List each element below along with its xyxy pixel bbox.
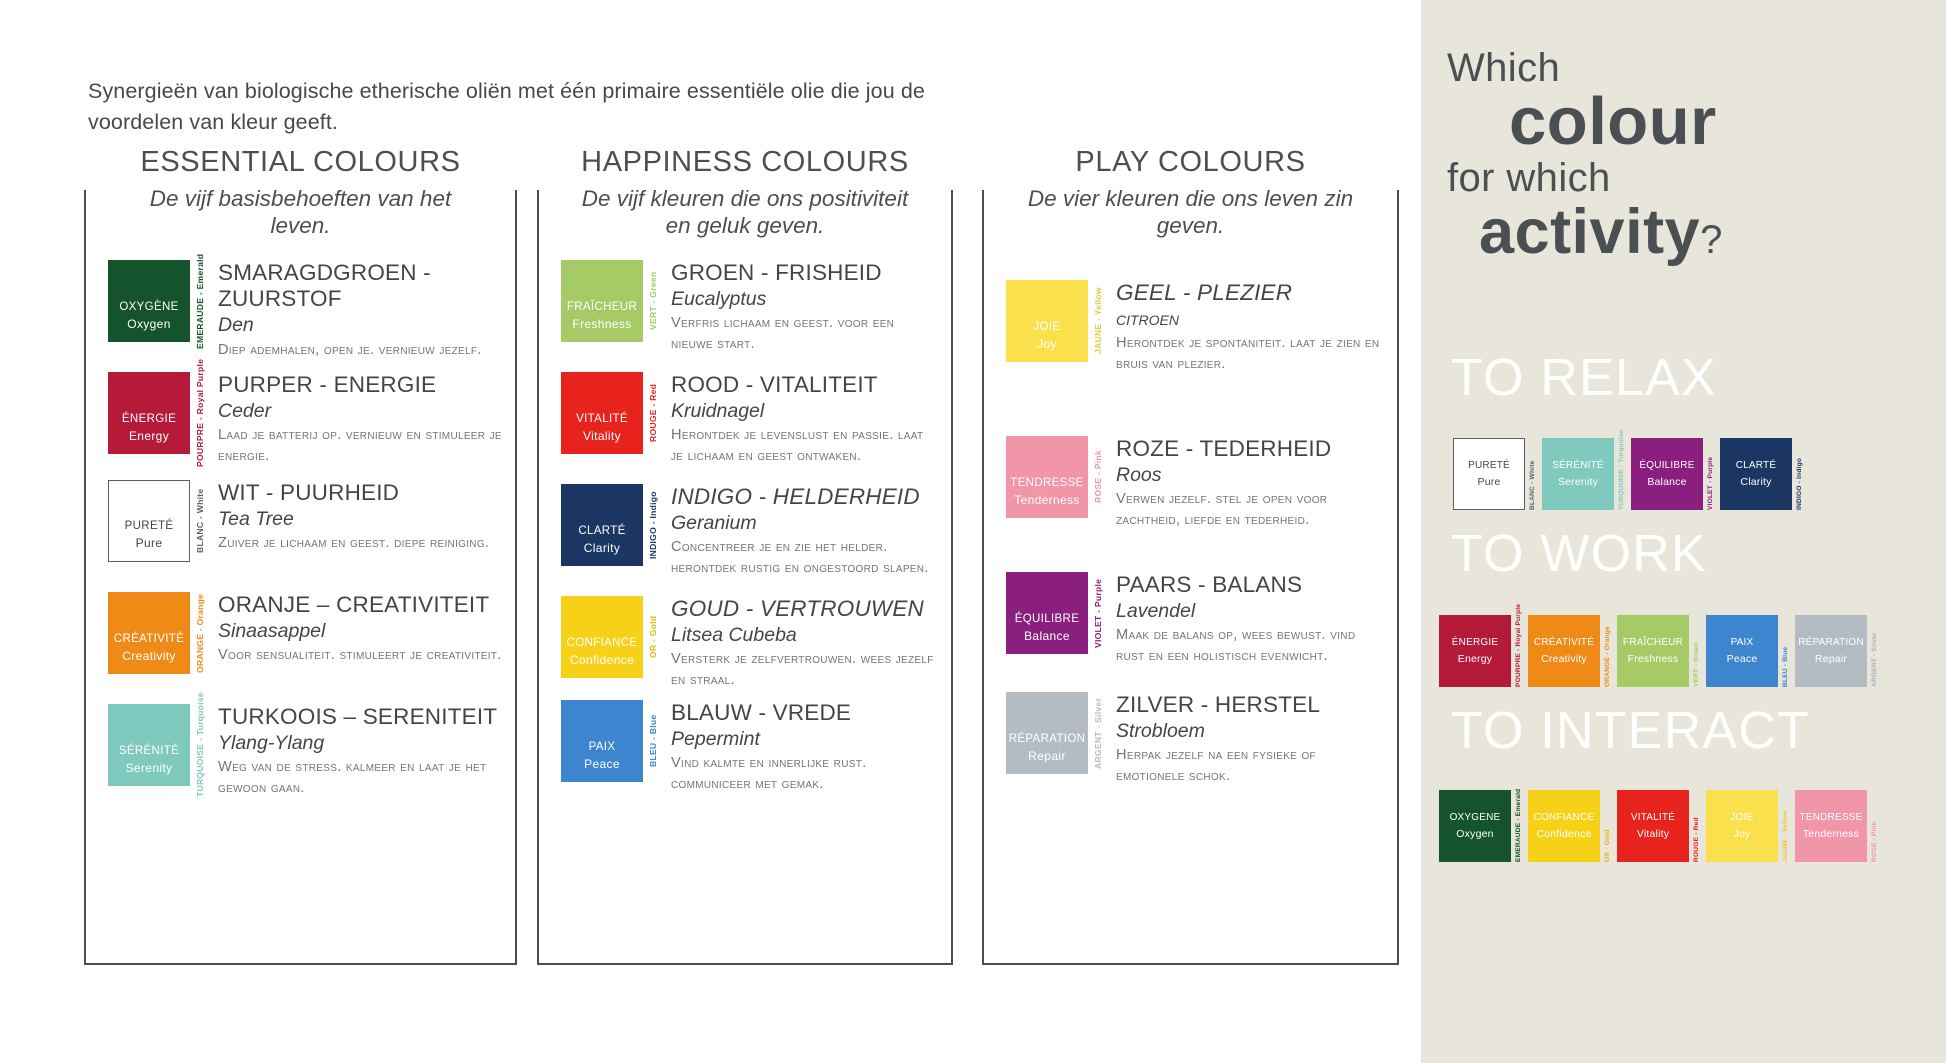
mini-swatch-group: TENDRESSETendernessROSE - Pink: [1795, 790, 1878, 862]
entry-text: ROOD - VITALITEITKruidnagelHerontdek je …: [671, 372, 939, 466]
hero-line-4: activity?: [1479, 200, 1927, 264]
entry-oil-name: Kruidnagel: [671, 399, 939, 424]
mini-swatch-group: FRAÎCHEURFreshnessVERT - Green: [1617, 615, 1700, 687]
colour-swatch: ÉNERGIEEnergy: [108, 372, 190, 454]
colour-entry: ÉNERGIEEnergyPOURPRE - Royal PurplePURPE…: [108, 372, 503, 466]
entry-colour-name: WIT - PUURHEID: [218, 480, 503, 506]
mini-label-en: Peace: [1727, 651, 1758, 667]
section-swatch-row: OXYGENEOxygenEMERAUDE - EmeraldCONFIANCE…: [1439, 790, 1884, 862]
mini-side-label: OR - Gold: [1604, 790, 1611, 862]
swatch-label-en: Freshness: [572, 316, 631, 333]
swatch-label-fr: PAIX: [589, 739, 616, 756]
swatch-label-fr: PURETÉ: [125, 518, 174, 535]
swatch-group: FRAÎCHEURFreshnessVERT - Green: [561, 260, 658, 342]
swatch-label-en: Joy: [1037, 336, 1057, 353]
mini-colour-swatch: RÉPARATIONRepair: [1795, 615, 1867, 687]
swatch-group: JOIEJoyJAUNE - Yellow: [1006, 280, 1103, 362]
swatch-label-fr: SÉRÉNITÉ: [119, 743, 179, 760]
swatch-label-fr: FRAÎCHEUR: [567, 299, 637, 316]
swatch-group: ÉNERGIEEnergyPOURPRE - Royal Purple: [108, 372, 205, 454]
entry-text: ZILVER - HERSTELStrobloemHerpak jezelf n…: [1116, 692, 1385, 786]
swatch-label-en: Tenderness: [1014, 492, 1080, 509]
entry-oil-name: Citroen: [1116, 307, 1385, 332]
entry-description: Herpak jezelf na een fysieke of emotione…: [1116, 745, 1385, 786]
entry-oil-name: Pepermint: [671, 727, 939, 752]
mini-side-label: JAUNE - Yellow: [1782, 790, 1789, 862]
mini-swatch-group: CLARTÉClarityINDIGO - Indigo: [1720, 438, 1803, 510]
entry-oil-name: Ylang-Ylang: [218, 731, 503, 756]
swatch-label-fr: OXYGÈNE: [119, 299, 178, 316]
colour-entry: SÉRÉNITÉSerenityTURQUOISE - TurquoiseTUR…: [108, 704, 503, 798]
swatch-label-en: Peace: [584, 756, 620, 773]
entry-description: Voor sensualiteit. Stimuleert je creativ…: [218, 645, 503, 665]
mini-colour-swatch: ÉQUILIBREBalance: [1631, 438, 1703, 510]
colour-swatch: JOIEJoy: [1006, 280, 1088, 362]
colour-entry: FRAÎCHEURFreshnessVERT - GreenGROEN - FR…: [561, 260, 939, 354]
mini-label-fr: ÉNERGIE: [1452, 635, 1498, 651]
entry-text: INDIGO - HELDERHEIDGeraniumConcentreer j…: [671, 484, 939, 578]
swatch-side-label: JAUNE - Yellow: [1093, 280, 1103, 362]
entry-text: SMARAGDGROEN - ZUURSTOFDenDiep ademhalen…: [218, 260, 503, 360]
entry-oil-name: Geranium: [671, 511, 939, 536]
swatch-label-fr: CLARTÉ: [578, 523, 625, 540]
entry-oil-name: Ceder: [218, 399, 503, 424]
mini-label-fr: FRAÎCHEUR: [1623, 635, 1683, 651]
mini-swatch-group: PAIXPeaceBLEU - Blue: [1706, 615, 1789, 687]
entry-oil-name: Den: [218, 313, 503, 338]
entry-colour-name: PAARS - BALANS: [1116, 572, 1385, 598]
mini-label-en: Energy: [1458, 651, 1492, 667]
entry-colour-name: TURKOOIS – SERENITEIT: [218, 704, 503, 730]
hero-line-4-word: activity: [1479, 197, 1700, 267]
colour-swatch: FRAÎCHEURFreshness: [561, 260, 643, 342]
entry-description: Versterk je zelfvertrouwen. Wees jezelf …: [671, 649, 939, 690]
column-entries: OXYGÈNEOxygenEMERAUDE - EmeraldSMARAGDGR…: [86, 192, 515, 963]
swatch-label-en: Pure: [136, 535, 163, 552]
mini-label-en: Confidence: [1536, 826, 1591, 842]
swatch-side-label: ARGENT - Silver: [1093, 692, 1103, 774]
swatch-group: TENDRESSETendernessROSE - Pink: [1006, 436, 1103, 518]
entry-text: TURKOOIS – SERENITEITYlang-YlangWeg van …: [218, 704, 503, 798]
mini-colour-swatch: OXYGENEOxygen: [1439, 790, 1511, 862]
entry-colour-name: PURPER - ENERGIE: [218, 372, 503, 398]
mini-swatch-group: ÉQUILIBREBalanceVIOLET - Purple: [1631, 438, 1714, 510]
right-panel: Which colour for which activity? TO RELA…: [1421, 0, 1946, 1063]
entry-text: PURPER - ENERGIECederLaad je batterij op…: [218, 372, 503, 466]
mini-side-label: ROUGE - Red: [1693, 790, 1700, 862]
swatch-group: ÉQUILIBREBalanceVIOLET - Purple: [1006, 572, 1103, 654]
swatch-group: PAIXPeaceBLEU - Blue: [561, 700, 658, 782]
swatch-label-en: Confidence: [570, 652, 634, 669]
entry-description: Diep ademhalen, open je. Vernieuw jezelf…: [218, 340, 503, 360]
swatch-side-label: BLANC - White: [195, 480, 205, 562]
entry-oil-name: Litsea Cubeba: [671, 623, 939, 648]
mini-colour-swatch: JOIEJoy: [1706, 790, 1778, 862]
mini-label-fr: VITALITÉ: [1631, 810, 1675, 826]
column-entries: FRAÎCHEURFreshnessVERT - GreenGROEN - FR…: [539, 192, 951, 963]
mini-label-en: Clarity: [1740, 474, 1771, 490]
mini-label-en: Serenity: [1558, 474, 1598, 490]
mini-side-label: ARGENT - Silver: [1871, 615, 1878, 687]
entry-description: Weg van de stress. Kalmeer en laat je he…: [218, 757, 503, 798]
entry-text: ROZE - TEDERHEIDRoosVerwen jezelf. Stel …: [1116, 436, 1385, 530]
entry-oil-name: Sinaasappel: [218, 619, 503, 644]
section-swatch-row: PURETÉPureBLANC - WhiteSÉRÉNITÉSerenityT…: [1453, 438, 1809, 510]
entry-colour-name: GEEL - PLEZIER: [1116, 280, 1385, 306]
mini-side-label: VIOLET - Purple: [1707, 438, 1714, 510]
swatch-side-label: BLEU - Blue: [648, 700, 658, 782]
mini-colour-swatch: FRAÎCHEURFreshness: [1617, 615, 1689, 687]
swatch-label-en: Balance: [1024, 628, 1070, 645]
section-title-to-interact: TO INTERACT: [1451, 705, 1810, 757]
mini-label-fr: CONFIANCE: [1534, 810, 1595, 826]
column-title: HAPPINESS COLOURS: [539, 146, 951, 179]
swatch-group: CONFIANCEConfidenceOR - Gold: [561, 596, 658, 678]
mini-label-fr: CRÉATIVITÉ: [1534, 635, 1594, 651]
entry-oil-name: Lavendel: [1116, 599, 1385, 624]
swatch-side-label: ROSE - Pink: [1093, 436, 1103, 518]
mini-swatch-group: RÉPARATIONRepairARGENT - Silver: [1795, 615, 1878, 687]
entry-colour-name: GOUD - VERTROUWEN: [671, 596, 939, 622]
colour-swatch: CRÉATIVITÉCreativity: [108, 592, 190, 674]
swatch-side-label: VIOLET - Purple: [1093, 572, 1103, 654]
mini-side-label: BLEU - Blue: [1782, 615, 1789, 687]
mini-label-fr: PAIX: [1731, 635, 1754, 651]
entry-description: Vind kalmte en innerlijke rust. Communic…: [671, 753, 939, 794]
swatch-side-label: ROUGE - Red: [648, 372, 658, 454]
mini-colour-swatch: CRÉATIVITÉCreativity: [1528, 615, 1600, 687]
swatch-group: PURETÉPureBLANC - White: [108, 480, 205, 562]
swatch-label-en: Energy: [129, 428, 169, 445]
swatch-label-fr: VITALITÉ: [576, 411, 628, 428]
mini-colour-swatch: SÉRÉNITÉSerenity: [1542, 438, 1614, 510]
mini-colour-swatch: CONFIANCEConfidence: [1528, 790, 1600, 862]
entry-colour-name: ORANJE – CREATIVITEIT: [218, 592, 503, 618]
mini-swatch-group: SÉRÉNITÉSerenityTURQUOISE - Turquoise: [1542, 438, 1625, 510]
mini-label-en: Tenderness: [1803, 826, 1859, 842]
mini-label-fr: ÉQUILIBRE: [1639, 458, 1694, 474]
colour-swatch: RÉPARATIONRepair: [1006, 692, 1088, 774]
entry-oil-name: Tea Tree: [218, 507, 503, 532]
entry-text: GOUD - VERTROUWENLitsea CubebaVersterk j…: [671, 596, 939, 690]
swatch-label-fr: ÉNERGIE: [122, 411, 176, 428]
intro-paragraph: Synergieën van biologische etherische ol…: [88, 76, 958, 137]
mini-colour-swatch: VITALITÉVitality: [1617, 790, 1689, 862]
colour-entry: CLARTÉClarityINDIGO - IndigoINDIGO - HEL…: [561, 484, 939, 578]
colour-entry: VITALITÉVitalityROUGE - RedROOD - VITALI…: [561, 372, 939, 466]
mini-side-label: INDIGO - Indigo: [1796, 438, 1803, 510]
mini-side-label: ORANGE - Orange: [1604, 615, 1611, 687]
mini-side-label: EMERAUDE - Emerald: [1515, 790, 1522, 862]
colour-swatch: CONFIANCEConfidence: [561, 596, 643, 678]
entry-colour-name: ROZE - TEDERHEID: [1116, 436, 1385, 462]
entry-colour-name: ROOD - VITALITEIT: [671, 372, 939, 398]
mini-colour-swatch: PURETÉPure: [1453, 438, 1525, 510]
entry-text: BLAUW - VREDEPepermintVind kalmte en inn…: [671, 700, 939, 794]
mini-label-fr: CLARTÉ: [1736, 458, 1776, 474]
mini-colour-swatch: TENDRESSETenderness: [1795, 790, 1867, 862]
mini-swatch-group: VITALITÉVitalityROUGE - Red: [1617, 790, 1700, 862]
swatch-group: RÉPARATIONRepairARGENT - Silver: [1006, 692, 1103, 774]
mini-label-fr: RÉPARATION: [1798, 635, 1864, 651]
entry-description: Zuiver je lichaam en geest. Diepe reinig…: [218, 533, 503, 553]
mini-swatch-group: PURETÉPureBLANC - White: [1453, 438, 1536, 510]
entry-colour-name: ZILVER - HERSTEL: [1116, 692, 1385, 718]
colour-entry: OXYGÈNEOxygenEMERAUDE - EmeraldSMARAGDGR…: [108, 260, 503, 360]
swatch-label-fr: TENDRESSE: [1010, 475, 1083, 492]
entry-description: Maak de balans op, wees bewust. Vind rus…: [1116, 625, 1385, 666]
mini-label-en: Creativity: [1541, 651, 1587, 667]
colour-swatch: TENDRESSETenderness: [1006, 436, 1088, 518]
entry-description: Verfris lichaam en geest. Voor een nieuw…: [671, 313, 939, 354]
entry-colour-name: BLAUW - VREDE: [671, 700, 939, 726]
column-title: PLAY COLOURS: [984, 146, 1397, 179]
swatch-label-en: Vitality: [583, 428, 621, 445]
entry-text: ORANJE – CREATIVITEITSinaasappelVoor sen…: [218, 592, 503, 666]
swatch-side-label: TURQUOISE - Turquoise: [195, 704, 205, 786]
mini-side-label: ROSE - Pink: [1871, 790, 1878, 862]
mini-label-fr: SÉRÉNITÉ: [1552, 458, 1604, 474]
entry-text: WIT - PUURHEIDTea TreeZuiver je lichaam …: [218, 480, 503, 554]
colour-group-1: ESSENTIAL COLOURSDe vijf basisbehoeften …: [84, 190, 517, 965]
colour-entry: PURETÉPureBLANC - WhiteWIT - PUURHEIDTea…: [108, 480, 503, 562]
entry-colour-name: SMARAGDGROEN - ZUURSTOF: [218, 260, 503, 312]
colour-entry: JOIEJoyJAUNE - YellowGEEL - PLEZIERCitro…: [1006, 280, 1385, 374]
entry-description: Verwen jezelf. Stel je open voor zachthe…: [1116, 489, 1385, 530]
colour-swatch: OXYGÈNEOxygen: [108, 260, 190, 342]
colour-swatch: ÉQUILIBREBalance: [1006, 572, 1088, 654]
swatch-label-fr: JOIE: [1034, 319, 1061, 336]
colour-entry: CONFIANCEConfidenceOR - GoldGOUD - VERTR…: [561, 596, 939, 690]
swatch-group: CRÉATIVITÉCreativityORANGE - Orange: [108, 592, 205, 674]
entry-colour-name: GROEN - FRISHEID: [671, 260, 939, 286]
swatch-group: VITALITÉVitalityROUGE - Red: [561, 372, 658, 454]
entry-oil-name: Roos: [1116, 463, 1385, 488]
swatch-side-label: POURPRE - Royal Purple: [195, 372, 205, 454]
swatch-group: SÉRÉNITÉSerenityTURQUOISE - Turquoise: [108, 704, 205, 786]
mini-colour-swatch: ÉNERGIEEnergy: [1439, 615, 1511, 687]
mini-side-label: BLANC - White: [1529, 438, 1536, 510]
swatch-label-en: Serenity: [126, 760, 173, 777]
swatch-label-en: Repair: [1028, 748, 1065, 765]
mini-label-en: Pure: [1478, 474, 1501, 490]
swatch-label-en: Creativity: [122, 648, 176, 665]
section-title-to-relax: TO RELAX: [1451, 352, 1717, 404]
section-title-to-work: TO WORK: [1451, 528, 1707, 580]
colour-entry: PAIXPeaceBLEU - BlueBLAUW - VREDEPepermi…: [561, 700, 939, 794]
entry-oil-name: Strobloem: [1116, 719, 1385, 744]
entry-description: Laad je batterij op. Vernieuw en stimule…: [218, 425, 503, 466]
swatch-side-label: OR - Gold: [648, 596, 658, 678]
mini-swatch-group: CRÉATIVITÉCreativityORANGE - Orange: [1528, 615, 1611, 687]
mini-label-fr: JOIE: [1730, 810, 1753, 826]
colour-entry: CRÉATIVITÉCreativityORANGE - OrangeORANJ…: [108, 592, 503, 674]
swatch-group: OXYGÈNEOxygenEMERAUDE - Emerald: [108, 260, 205, 342]
swatch-group: CLARTÉClarityINDIGO - Indigo: [561, 484, 658, 566]
mini-label-fr: TENDRESSE: [1800, 810, 1863, 826]
swatch-label-fr: ÉQUILIBRE: [1015, 611, 1080, 628]
swatch-side-label: EMERAUDE - Emerald: [195, 260, 205, 342]
hero-line-3: for which: [1447, 156, 1927, 200]
swatch-label-fr: RÉPARATION: [1009, 731, 1086, 748]
info-sheet-left: Synergieën van biologische etherische ol…: [0, 0, 1421, 1063]
mini-label-en: Vitality: [1637, 826, 1669, 842]
section-swatch-row: ÉNERGIEEnergyPOURPRE - Royal PurpleCRÉAT…: [1439, 615, 1884, 687]
hero-line-1: Which: [1447, 48, 1927, 88]
colour-swatch: PURETÉPure: [108, 480, 190, 562]
entry-text: GROEN - FRISHEIDEucalyptusVerfris lichaa…: [671, 260, 939, 354]
mini-swatch-group: CONFIANCEConfidenceOR - Gold: [1528, 790, 1611, 862]
swatch-label-en: Oxygen: [127, 316, 170, 333]
entry-description: Herontdek je levenslust en passie. Laat …: [671, 425, 939, 466]
column-title: ESSENTIAL COLOURS: [86, 146, 515, 179]
mini-side-label: POURPRE - Royal Purple: [1515, 615, 1522, 687]
entry-description: Herontdek je spontaniteit. Laat je zien …: [1116, 333, 1385, 374]
mini-swatch-group: ÉNERGIEEnergyPOURPRE - Royal Purple: [1439, 615, 1522, 687]
swatch-label-fr: CONFIANCE: [567, 635, 638, 652]
entry-description: Concentreer je en zie het helder. Heront…: [671, 537, 939, 578]
hero-heading: Which colour for which activity?: [1447, 48, 1927, 265]
mini-swatch-group: JOIEJoyJAUNE - Yellow: [1706, 790, 1789, 862]
entry-text: GEEL - PLEZIERCitroenHerontdek je sponta…: [1116, 280, 1385, 374]
colour-entry: RÉPARATIONRepairARGENT - SilverZILVER - …: [1006, 692, 1385, 786]
mini-colour-swatch: CLARTÉClarity: [1720, 438, 1792, 510]
hero-line-2: colour: [1509, 88, 1927, 156]
colour-entry: ÉQUILIBREBalanceVIOLET - PurplePAARS - B…: [1006, 572, 1385, 666]
colour-swatch: SÉRÉNITÉSerenity: [108, 704, 190, 786]
mini-side-label: VERT - Green: [1693, 615, 1700, 687]
swatch-side-label: VERT - Green: [648, 260, 658, 342]
entry-text: PAARS - BALANSLavendelMaak de balans op,…: [1116, 572, 1385, 666]
colour-group-3: PLAY COLOURSDe vier kleuren die ons leve…: [982, 190, 1399, 965]
mini-label-en: Freshness: [1628, 651, 1679, 667]
mini-label-en: Joy: [1734, 826, 1751, 842]
colour-swatch: PAIXPeace: [561, 700, 643, 782]
mini-side-label: TURQUOISE - Turquoise: [1618, 438, 1625, 510]
colour-entry: TENDRESSETendernessROSE - PinkROZE - TED…: [1006, 436, 1385, 530]
colour-group-2: HAPPINESS COLOURSDe vijf kleuren die ons…: [537, 190, 953, 965]
mini-label-en: Balance: [1647, 474, 1686, 490]
hero-question-mark: ?: [1700, 218, 1723, 262]
entry-colour-name: INDIGO - HELDERHEID: [671, 484, 939, 510]
swatch-label-fr: CRÉATIVITÉ: [114, 631, 184, 648]
mini-label-en: Repair: [1815, 651, 1847, 667]
entry-oil-name: Eucalyptus: [671, 287, 939, 312]
mini-swatch-group: OXYGENEOxygenEMERAUDE - Emerald: [1439, 790, 1522, 862]
swatch-side-label: ORANGE - Orange: [195, 592, 205, 674]
colour-swatch: VITALITÉVitality: [561, 372, 643, 454]
mini-label-fr: OXYGENE: [1450, 810, 1501, 826]
mini-colour-swatch: PAIXPeace: [1706, 615, 1778, 687]
mini-label-fr: PURETÉ: [1468, 458, 1510, 474]
colour-swatch: CLARTÉClarity: [561, 484, 643, 566]
mini-label-en: Oxygen: [1456, 826, 1493, 842]
column-entries: JOIEJoyJAUNE - YellowGEEL - PLEZIERCitro…: [984, 192, 1397, 963]
swatch-side-label: INDIGO - Indigo: [648, 484, 658, 566]
swatch-label-en: Clarity: [584, 540, 620, 557]
